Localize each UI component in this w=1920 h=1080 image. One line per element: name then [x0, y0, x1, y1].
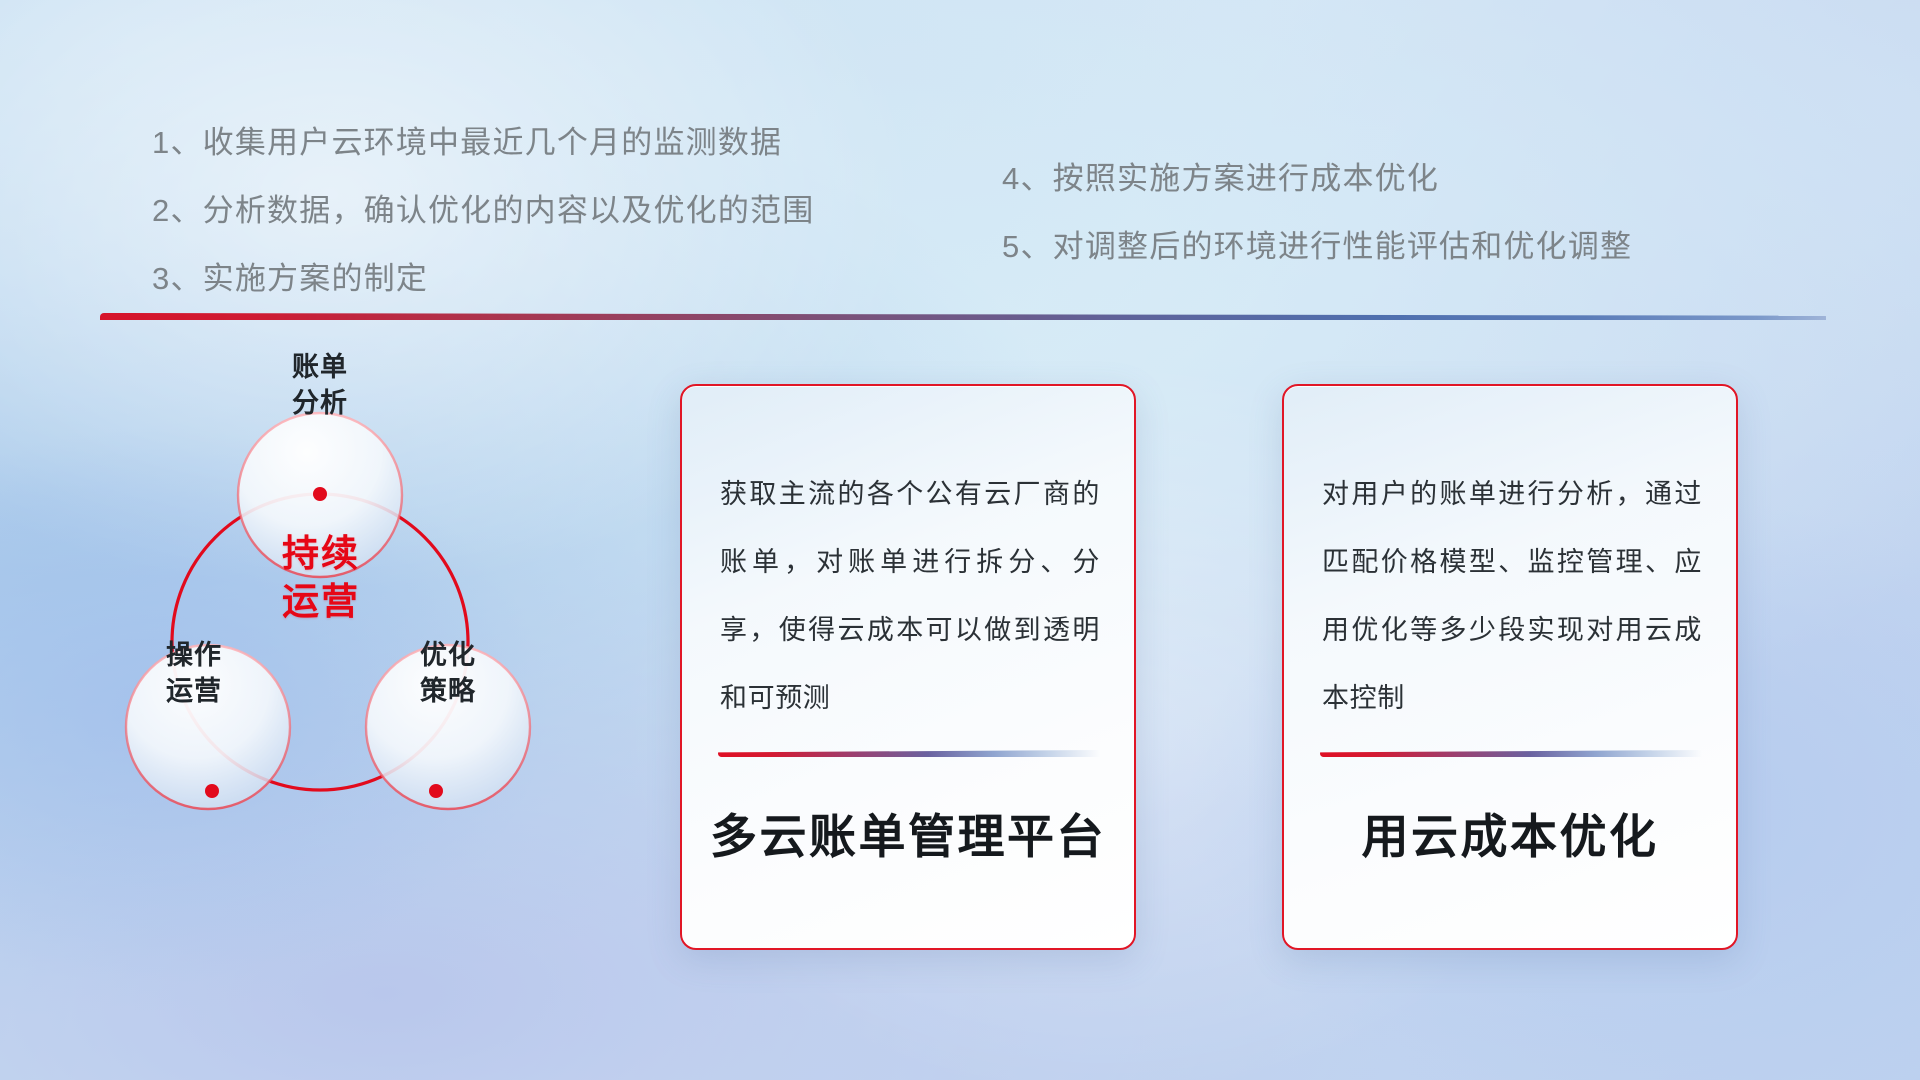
step-item-5: 5、对调整后的环境进行性能评估和优化调整 [1002, 221, 1632, 266]
feature-card-billing-platform[interactable]: 获取主流的各个公有云厂商的账单，对账单进行拆分、分享，使得云成本可以做到透明和可… [680, 384, 1136, 950]
step-item-4: 4、按照实施方案进行成本优化 [1002, 153, 1439, 198]
feature-card-rule [718, 750, 1100, 757]
step-item-1: 1、收集用户云环境中最近几个月的监测数据 [152, 117, 782, 162]
venn-center-label: 持续 运营 [226, 530, 416, 626]
feature-card-rule [1320, 750, 1702, 757]
venn-node-left [205, 784, 219, 798]
feature-card-title: 用云成本优化 [1284, 798, 1736, 867]
venn-node-top [313, 487, 327, 501]
step-item-3: 3、实施方案的制定 [152, 253, 428, 298]
feature-card-description: 对用户的账单进行分析，通过匹配价格模型、监控管理、应用优化等多少段实现对用云成本… [1322, 460, 1702, 732]
venn-label-left: 操作 运营 [114, 638, 274, 709]
venn-diagram: 账单 分析 操作 运营 优化 策略 持续 运营 [100, 350, 550, 950]
venn-label-right: 优化 策略 [368, 638, 528, 709]
venn-node-right [429, 784, 443, 798]
process-steps-list: 1、收集用户云环境中最近几个月的监测数据 2、分析数据，确认优化的内容以及优化的… [0, 0, 1920, 300]
venn-label-top: 账单 分析 [240, 350, 400, 421]
feature-card-title: 多云账单管理平台 [682, 798, 1134, 867]
step-item-2: 2、分析数据，确认优化的内容以及优化的范围 [152, 185, 814, 230]
feature-card-description: 获取主流的各个公有云厂商的账单，对账单进行拆分、分享，使得云成本可以做到透明和可… [720, 460, 1100, 732]
feature-card-cost-optimization[interactable]: 对用户的账单进行分析，通过匹配价格模型、监控管理、应用优化等多少段实现对用云成本… [1282, 384, 1738, 950]
